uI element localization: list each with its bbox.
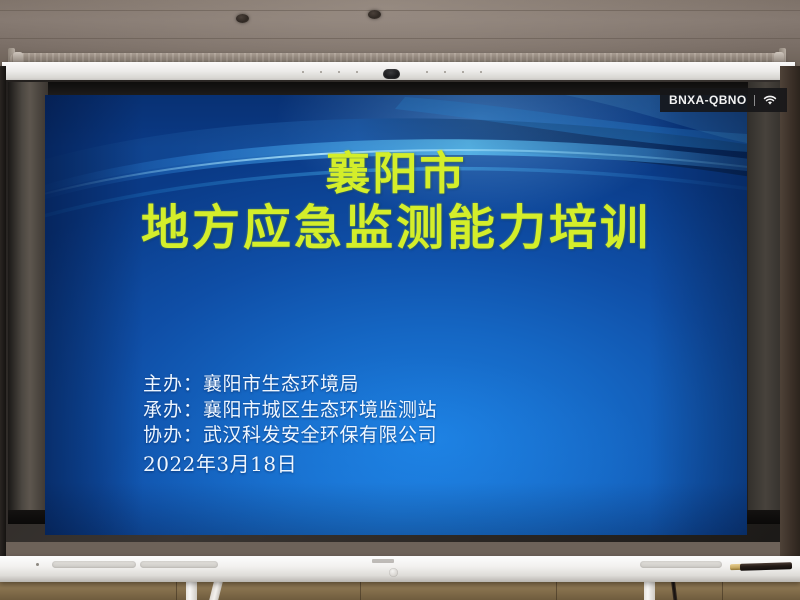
stylus-body (740, 562, 792, 571)
host-label: 承办： (143, 399, 203, 421)
ceiling-seam (0, 38, 800, 39)
ceiling-fixture-icon (368, 10, 381, 19)
organizer-line: 主办：襄阳市生态环境局 (143, 372, 703, 398)
stylus-pen-icon[interactable] (730, 563, 792, 570)
left-wall-shadow (0, 66, 6, 558)
wifi-icon[interactable] (762, 94, 778, 106)
ir-sensor-icon (36, 563, 39, 566)
speaker-grille-left (52, 561, 136, 568)
speaker-grille-right (640, 561, 722, 568)
microphone-hole-icon (444, 71, 446, 73)
host-value: 襄阳市城区生态环境监测站 (203, 399, 437, 421)
ceiling-fixture-icon (236, 14, 249, 23)
microphone-hole-icon (338, 71, 340, 73)
co-organizer-label: 协办： (143, 424, 203, 446)
microphone-hole-icon (302, 71, 304, 73)
power-button-icon[interactable] (389, 568, 398, 577)
ceiling-seam (0, 10, 800, 11)
osd-status-badge[interactable]: BNXA-QBNO (660, 88, 787, 112)
screen-content-area[interactable]: 襄阳市 地方应急监测能力培训 主办：襄阳市生态环境局 承办：襄阳市城区生态环境监… (45, 95, 747, 535)
device-name-label: BNXA-QBNO (669, 93, 747, 107)
microphone-hole-icon (356, 71, 358, 73)
slide-title-block: 襄阳市 地方应急监测能力培训 (45, 147, 747, 257)
slide-title-line-1: 襄阳市 (45, 147, 747, 200)
display-bezel-left (8, 82, 48, 522)
host-line: 承办：襄阳市城区生态环境监测站 (143, 398, 703, 424)
speaker-grille-left (140, 561, 218, 568)
microphone-hole-icon (426, 71, 428, 73)
display-bottom-bar (0, 556, 800, 582)
osd-separator (754, 95, 755, 106)
brand-logo (372, 559, 394, 563)
organizer-value: 襄阳市生态环境局 (203, 373, 359, 395)
co-organizer-value: 武汉科发安全环保有限公司 (203, 424, 437, 446)
organizer-label: 主办： (143, 373, 203, 395)
slide-date: 2022年3月18日 (143, 450, 703, 478)
display-top-bar (2, 62, 795, 82)
microphone-hole-icon (320, 71, 322, 73)
co-organizer-line: 协办：武汉科发安全环保有限公司 (143, 423, 703, 449)
photo-scene: 襄阳市 地方应急监测能力培训 主办：襄阳市生态环境局 承办：襄阳市城区生态环境监… (0, 0, 800, 600)
camera-icon (383, 69, 400, 79)
slide-subtitle-block: 主办：襄阳市生态环境局 承办：襄阳市城区生态环境监测站 协办：武汉科发安全环保有… (143, 372, 703, 478)
microphone-hole-icon (462, 71, 464, 73)
right-wall-shadow (780, 66, 800, 558)
microphone-hole-icon (480, 71, 482, 73)
slide-title-line-2: 地方应急监测能力培训 (45, 200, 747, 257)
